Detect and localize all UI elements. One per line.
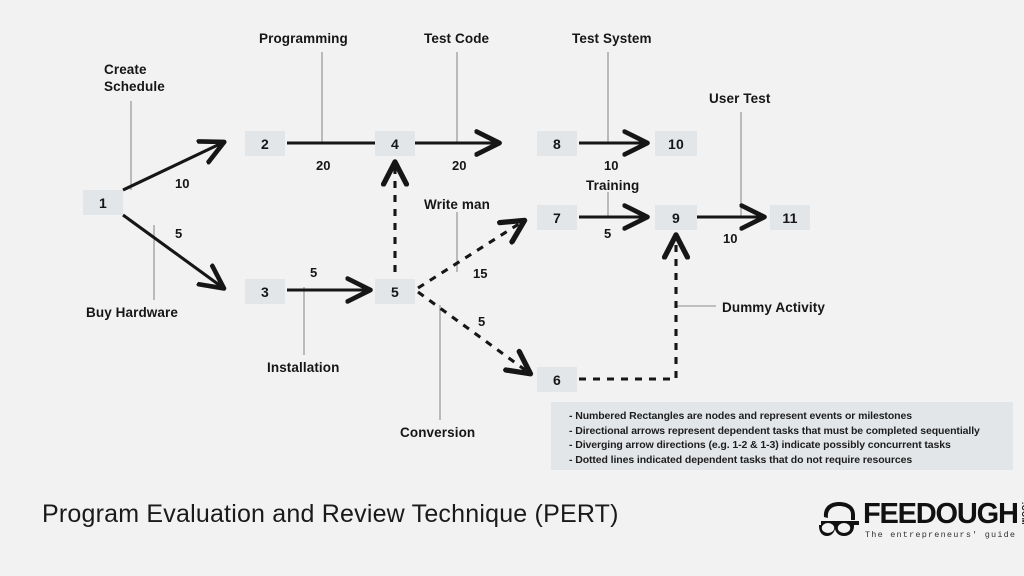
legend-box: - Numbered Rectangles are nodes and repr… — [551, 402, 1013, 470]
node-2[interactable]: 2 — [245, 131, 285, 156]
duration-9-11: 10 — [723, 231, 737, 246]
node-9[interactable]: 9 — [655, 205, 697, 230]
node-1[interactable]: 1 — [83, 190, 123, 215]
node-11[interactable]: 11 — [770, 205, 810, 230]
dummy-activity-path — [579, 238, 676, 379]
page-title: Program Evaluation and Review Technique … — [42, 500, 619, 529]
duration-2-4: 20 — [316, 158, 330, 173]
duration-4-out: 20 — [452, 158, 466, 173]
logo-face-icon — [818, 500, 862, 540]
label-create-schedule: Create Schedule — [104, 62, 165, 96]
label-test-system: Test System — [572, 31, 652, 48]
node-3[interactable]: 3 — [245, 279, 285, 304]
duration-8-10: 10 — [604, 158, 618, 173]
duration-1-3: 5 — [175, 226, 182, 241]
label-dummy-activity: Dummy Activity — [722, 300, 825, 317]
logo-tagline: The entrepreneurs' guide — [865, 530, 1024, 540]
label-buy-hardware: Buy Hardware — [86, 305, 178, 322]
duration-1-2: 10 — [175, 176, 189, 191]
legend-item-arrows: - Directional arrows represent dependent… — [569, 425, 1013, 437]
label-write-man: Write man — [424, 197, 490, 214]
label-test-code: Test Code — [424, 31, 489, 48]
feedough-logo[interactable]: FEEDOUGH .COM The entrepreneurs' guide — [818, 500, 1024, 540]
duration-3-5: 5 — [310, 265, 317, 280]
label-training: Training — [586, 178, 639, 195]
node-7[interactable]: 7 — [537, 205, 577, 230]
duration-5-6: 5 — [478, 314, 485, 329]
label-user-test: User Test — [709, 91, 770, 108]
node-8[interactable]: 8 — [537, 131, 577, 156]
duration-7-9: 5 — [604, 226, 611, 241]
legend-item-nodes: - Numbered Rectangles are nodes and repr… — [569, 410, 1013, 422]
leader-lines — [131, 52, 741, 420]
pert-diagram-slide: 1 2 3 4 5 6 7 8 9 10 11 Create Schedule … — [0, 0, 1024, 576]
node-4[interactable]: 4 — [375, 131, 415, 156]
logo-dotcom: .COM — [1020, 502, 1024, 525]
legend-item-dotted: - Dotted lines indicated dependent tasks… — [569, 454, 1013, 466]
node-5[interactable]: 5 — [375, 279, 415, 304]
legend-item-diverging: - Diverging arrow directions (e.g. 1-2 &… — [569, 439, 1013, 451]
label-programming: Programming — [259, 31, 348, 48]
node-6[interactable]: 6 — [537, 367, 577, 392]
logo-wordmark: FEEDOUGH — [863, 500, 1018, 528]
label-conversion: Conversion — [400, 425, 475, 442]
label-installation: Installation — [267, 360, 339, 377]
duration-5-7: 15 — [473, 266, 487, 281]
node-10[interactable]: 10 — [655, 131, 697, 156]
